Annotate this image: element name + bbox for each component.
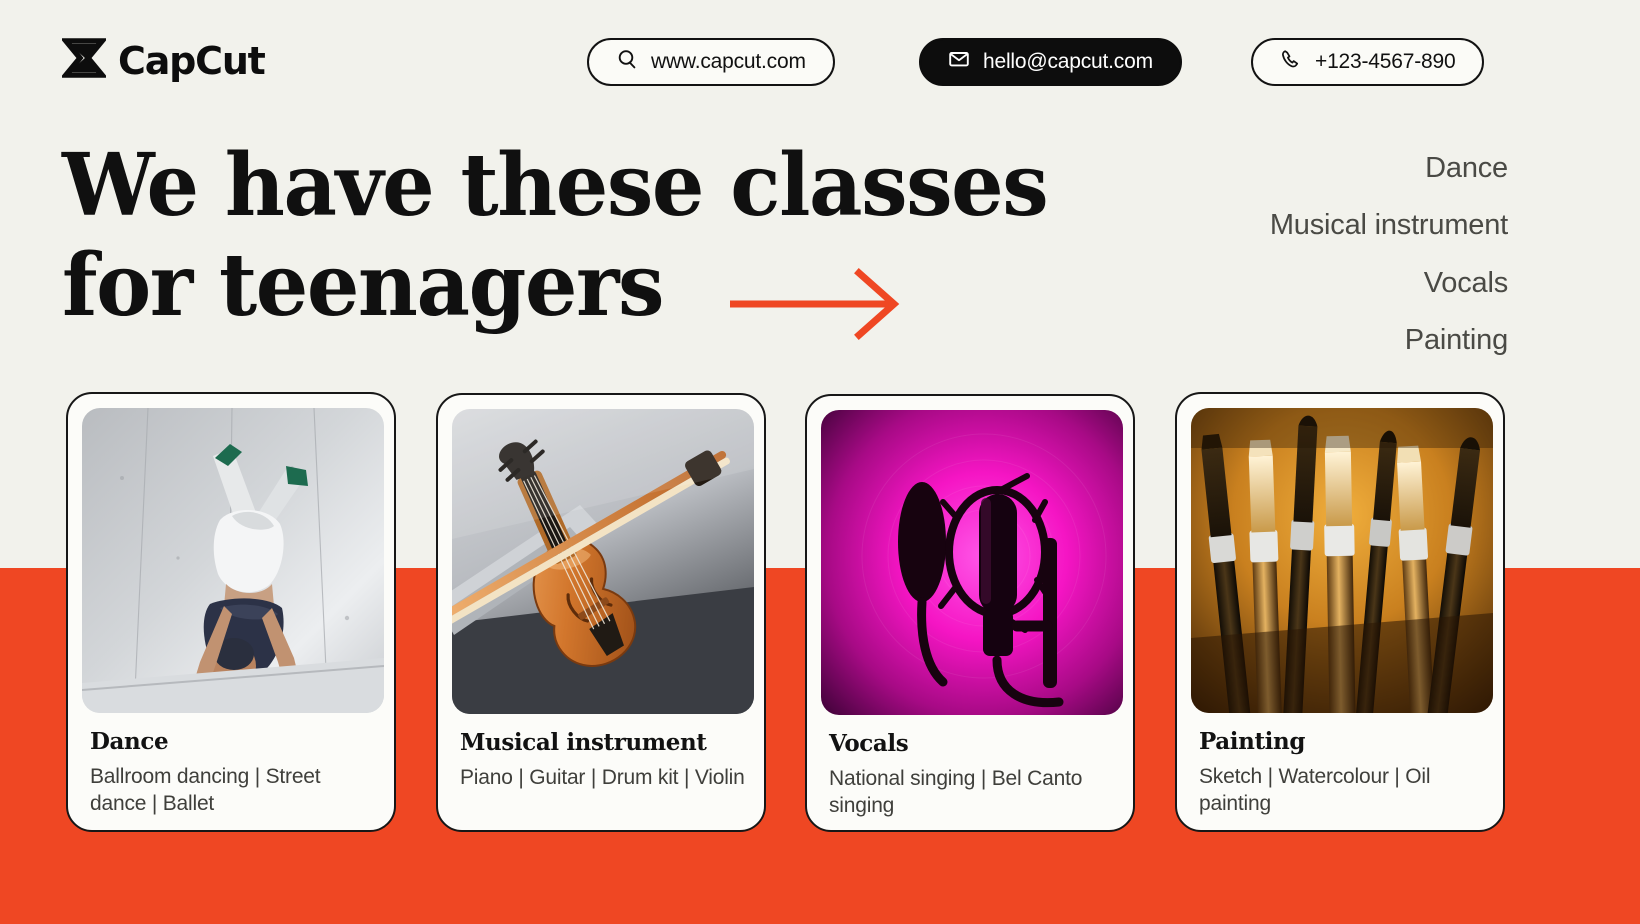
class-card-list: Dance Ballroom dancing | Street dance | … [0, 0, 1640, 924]
card-title-painting: Painting [1199, 729, 1487, 754]
card-description-painting: Sketch | Watercolour | Oil painting [1199, 764, 1487, 818]
card-image-musical-instrument [452, 409, 754, 714]
class-card-vocals[interactable]: Vocals National singing | Bel Canto sing… [805, 394, 1135, 832]
card-body-vocals: Vocals National singing | Bel Canto sing… [821, 715, 1119, 820]
poster-stage: CapCut www.capcut.com hello@capcut.com [0, 0, 1640, 924]
card-description-dance: Ballroom dancing | Street dance | Ballet [90, 764, 378, 818]
card-image-painting [1191, 408, 1493, 713]
card-body-dance: Dance Ballroom dancing | Street dance | … [82, 713, 380, 818]
card-image-dance [82, 408, 384, 713]
card-title-musical-instrument: Musical instrument [460, 730, 748, 755]
class-card-musical-instrument[interactable]: Musical instrument Piano | Guitar | Drum… [436, 393, 766, 832]
class-card-painting[interactable]: Painting Sketch | Watercolour | Oil pain… [1175, 392, 1505, 832]
card-image-vocals [821, 410, 1123, 715]
card-body-musical-instrument: Musical instrument Piano | Guitar | Drum… [452, 714, 750, 792]
class-card-dance[interactable]: Dance Ballroom dancing | Street dance | … [66, 392, 396, 832]
card-title-vocals: Vocals [829, 731, 1117, 756]
card-description-vocals: National singing | Bel Canto singing [829, 766, 1117, 820]
card-title-dance: Dance [90, 729, 378, 754]
card-body-painting: Painting Sketch | Watercolour | Oil pain… [1191, 713, 1489, 818]
card-description-musical-instrument: Piano | Guitar | Drum kit | Violin [460, 765, 748, 792]
